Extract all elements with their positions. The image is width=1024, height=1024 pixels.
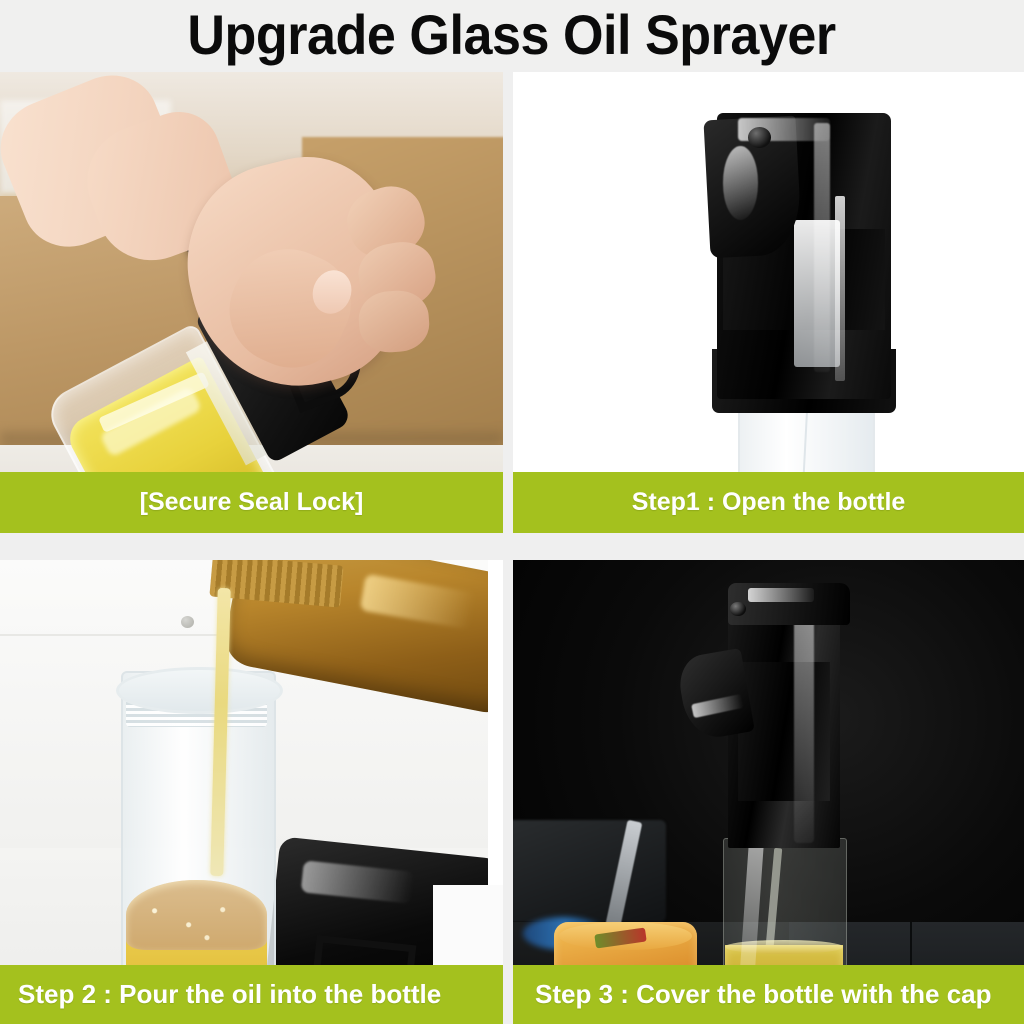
scene-assembled-sprayer (513, 560, 1024, 1024)
photo-secure-seal-lock (0, 72, 503, 533)
scene-hand-holding-sprayer (0, 72, 503, 533)
scene-pouring-oil (0, 560, 503, 1024)
product-infographic: Upgrade Glass Oil Sprayer (0, 0, 1024, 1024)
scene-cap-opened (513, 72, 1024, 533)
panel-step-3: Step 3 : Cover the bottle with the cap (513, 560, 1024, 1024)
hand (161, 100, 453, 441)
page-title: Upgrade Glass Oil Sprayer (188, 6, 836, 64)
caption-step-2: Step 2 : Pour the oil into the bottle (0, 965, 503, 1024)
photo-step-2 (0, 560, 503, 1024)
photo-step-3 (513, 560, 1024, 1024)
panel-secure-seal-lock: [Secure Seal Lock] (0, 72, 503, 533)
caption-label: Step 2 : Pour the oil into the bottle (18, 979, 441, 1010)
caption-label: Step1 : Open the bottle (632, 488, 906, 517)
caption-label: [Secure Seal Lock] (140, 488, 364, 517)
caption-label: Step 3 : Cover the bottle with the cap (535, 979, 992, 1010)
title-band: Upgrade Glass Oil Sprayer (0, 0, 1024, 70)
panel-step-2: Step 2 : Pour the oil into the bottle (0, 560, 503, 1024)
caption-step-1: Step1 : Open the bottle (513, 472, 1024, 533)
caption-secure-seal-lock: [Secure Seal Lock] (0, 472, 503, 533)
caption-step-3: Step 3 : Cover the bottle with the cap (513, 965, 1024, 1024)
photo-step-1 (513, 72, 1024, 533)
panel-step-1: Step1 : Open the bottle (513, 72, 1024, 533)
